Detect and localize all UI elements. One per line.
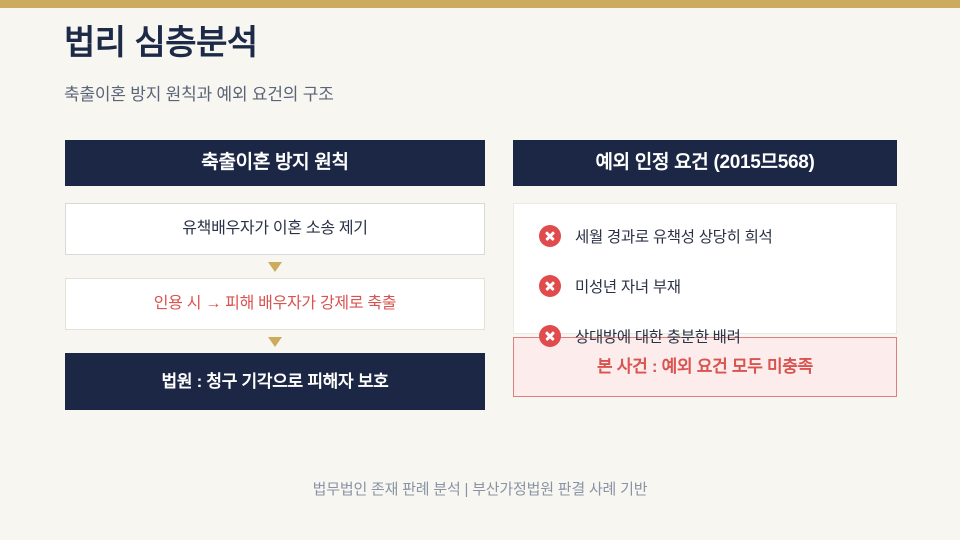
left-column-header: 축출이혼 방지 원칙: [65, 140, 485, 186]
page-subtitle: 축출이혼 방지 원칙과 예외 요건의 구조: [64, 80, 334, 105]
right-column: 예외 인정 요건 (2015므568) 세월 경과로 유책성 상당히 희석 미성…: [513, 140, 897, 397]
spacer: [513, 186, 897, 203]
requirement-list: 세월 경과로 유책성 상당히 희석 미성년 자녀 부재 상대방에 대한 충분한 …: [513, 203, 897, 334]
footer-note: 법무법인 존재 판례 분석 | 부산가정법원 판결 사례 기반: [0, 478, 960, 499]
left-column-conclusion: 법원 : 청구 기각으로 피해자 보호: [65, 353, 485, 410]
flow-step-1: 유책배우자가 이혼 소송 제기: [65, 203, 485, 255]
right-column-conclusion: 본 사건 : 예외 요건 모두 미충족: [513, 337, 897, 397]
requirement-label: 세월 경과로 유책성 상당히 희석: [575, 225, 773, 247]
right-column-header: 예외 인정 요건 (2015므568): [513, 140, 897, 186]
x-circle-icon: [539, 225, 561, 247]
triangle-down-icon-1: [65, 255, 485, 278]
list-item: 세월 경과로 유책성 상당히 희석: [514, 219, 896, 253]
x-circle-icon: [539, 275, 561, 297]
slide-canvas: 법리 심층분석 축출이혼 방지 원칙과 예외 요건의 구조 축출이혼 방지 원칙…: [0, 0, 960, 540]
spacer: [65, 186, 485, 203]
requirement-label: 미성년 자녀 부재: [575, 275, 681, 297]
flow-step-2: 인용 시 → 피해 배우자가 강제로 축출: [65, 278, 485, 330]
triangle-down-icon-2: [65, 330, 485, 353]
left-column: 축출이혼 방지 원칙 유책배우자가 이혼 소송 제기 인용 시 → 피해 배우자…: [65, 140, 485, 410]
x-circle-icon: [539, 325, 561, 347]
top-accent-bar: [0, 0, 960, 8]
page-title: 법리 심층분석: [64, 22, 258, 65]
list-item: 미성년 자녀 부재: [514, 269, 896, 303]
